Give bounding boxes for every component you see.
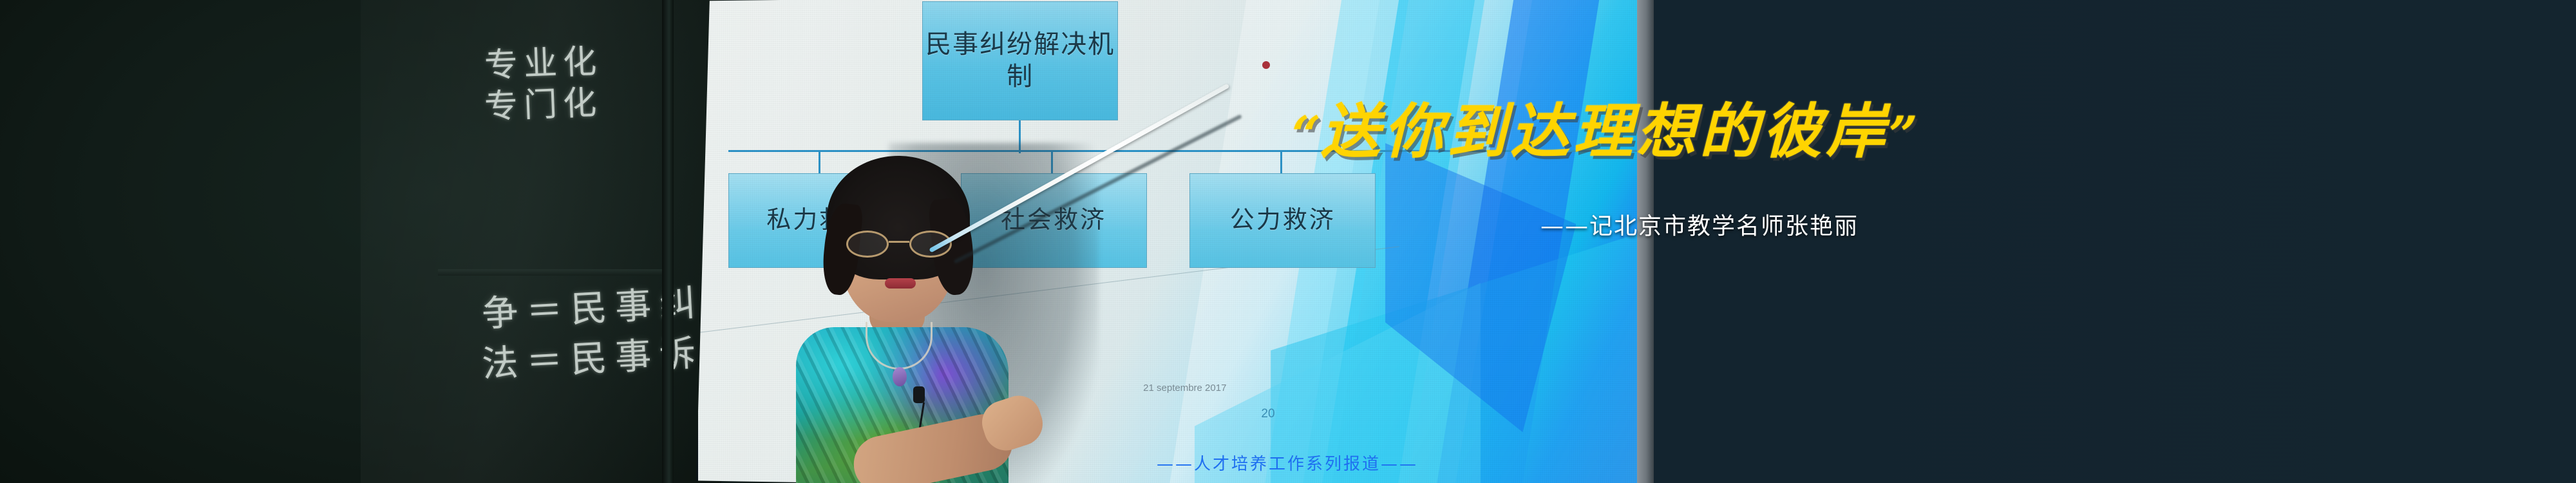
screen-bezel-right-strip bbox=[1637, 0, 1654, 483]
glasses-lens-left bbox=[846, 231, 889, 258]
banner-subtitle: ——记北京市教学名师张艳丽 bbox=[1540, 207, 1859, 241]
presenter-mouth bbox=[885, 278, 916, 289]
banner-headline: “送你到达理想的彼岸” bbox=[1292, 84, 1918, 169]
banner-image: 专业化 专门化 争＝民事纠纷 法＝民事诉讼 民事纠纷解决机制 私 bbox=[0, 0, 2576, 483]
banner-kicker-caption: ——人才培养工作系列报道—— bbox=[1157, 451, 1418, 475]
glasses-bridge bbox=[889, 241, 909, 243]
chalk-rail bbox=[438, 269, 670, 276]
pointer-stick-tip bbox=[1262, 61, 1270, 69]
presenter-figure bbox=[720, 134, 1081, 483]
presenter-pendant bbox=[893, 367, 907, 386]
headline-close-quote: ” bbox=[1889, 106, 1918, 164]
blackboard: 专业化 专门化 争＝民事纠纷 法＝民事诉讼 bbox=[0, 0, 721, 483]
headline-open-quote: “ bbox=[1292, 106, 1321, 164]
clip-microphone-icon bbox=[913, 386, 925, 403]
chalk-text-line-2: 专门化 bbox=[484, 75, 603, 128]
headline-text: 送你到达理想的彼岸 bbox=[1321, 97, 1889, 166]
blackboard-right-edge bbox=[662, 0, 674, 483]
